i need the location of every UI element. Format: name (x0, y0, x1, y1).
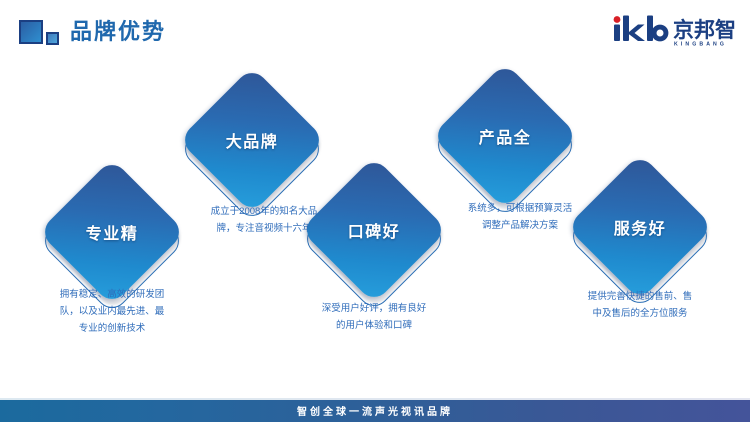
page-title: 品牌优势 (70, 17, 166, 47)
brand-logo: 京邦智 KINGBANG (610, 12, 738, 48)
node-face (566, 153, 713, 300)
caption-line: 专业的创新技术 (38, 320, 186, 337)
header-square-small-icon (46, 32, 59, 45)
advantage-node-4[interactable]: 产品全 (453, 84, 557, 188)
node-face (178, 66, 325, 213)
header-square-large-icon (19, 20, 43, 44)
caption-line: 深受用户好评，拥有良好 (300, 300, 448, 317)
slide-header: 品牌优势 京邦智 KINGBANG (0, 0, 750, 62)
caption-line: 的用户体验和口碑 (300, 317, 448, 334)
caption-line: 中及售后的全方位服务 (566, 305, 714, 322)
caption-line: 队，以及业内最先进、最 (38, 303, 186, 320)
advantage-node-5[interactable]: 服务好 (588, 175, 692, 279)
footer-slogan: 智创全球一流声光视讯品牌 (0, 398, 750, 422)
caption-line: 拥有稳定、高效的研发团 (38, 286, 186, 303)
slide-footer: 智创全球一流声光视讯品牌 (0, 398, 750, 422)
caption-line: 系统多，可根据预算灵活 (446, 200, 594, 217)
advantage-node-2[interactable]: 大品牌 (200, 88, 304, 192)
svg-text:京邦智: 京邦智 (673, 18, 736, 42)
advantage-caption-1: 拥有稳定、高效的研发团 队，以及业内最先进、最 专业的创新技术 (38, 286, 186, 337)
advantage-caption-5: 提供完善快捷的售前、售 中及售后的全方位服务 (566, 288, 714, 322)
advantage-caption-3: 深受用户好评，拥有良好 的用户体验和口碑 (300, 300, 448, 334)
advantage-node-1[interactable]: 专业精 (60, 180, 164, 284)
node-face (300, 156, 447, 303)
logo-icon: 京邦智 KINGBANG (610, 12, 738, 48)
node-face (431, 62, 578, 209)
node-face (38, 158, 185, 305)
slide-root: 品牌优势 京邦智 KINGBANG (0, 0, 750, 422)
svg-text:KINGBANG: KINGBANG (674, 42, 727, 48)
advantage-node-3[interactable]: 口碑好 (322, 178, 426, 282)
caption-line: 提供完善快捷的售前、售 (566, 288, 714, 305)
